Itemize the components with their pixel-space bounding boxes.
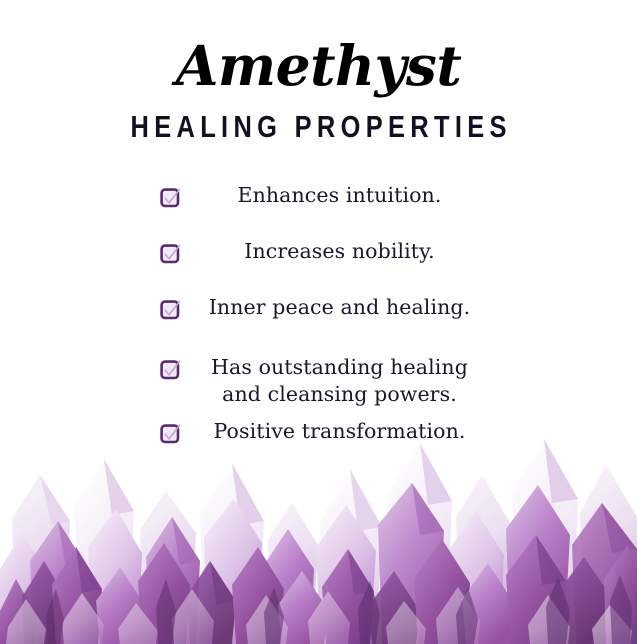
list-item-line: Inner peace and healing. xyxy=(42,294,637,321)
page-title: Amethyst xyxy=(0,38,637,93)
list-item: Enhances intuition. xyxy=(0,182,637,220)
benefits-list: Enhances intuition. Increases nobility. xyxy=(0,182,637,456)
list-item-text: Inner peace and healing. xyxy=(0,294,637,321)
checked-checkbox-icon xyxy=(160,359,181,380)
checked-checkbox-icon xyxy=(160,187,181,208)
list-item-line: and cleansing powers. xyxy=(42,381,637,408)
list-item-text: Increases nobility. xyxy=(0,238,637,265)
list-item-line: Has outstanding healing xyxy=(42,354,637,381)
list-item-line: Enhances intuition. xyxy=(42,182,637,209)
header: Amethyst HEALING PROPERTIES xyxy=(0,0,637,142)
page-subtitle: HEALING PROPERTIES xyxy=(57,93,579,142)
amethyst-crystal-cluster-image xyxy=(0,429,637,644)
list-item: Increases nobility. xyxy=(0,238,637,276)
list-item: Inner peace and healing. xyxy=(0,294,637,332)
list-item: Has outstanding healing and cleansing po… xyxy=(0,354,637,408)
list-item-line: Increases nobility. xyxy=(42,238,637,265)
list-item-text: Has outstanding healing and cleansing po… xyxy=(0,354,637,408)
checked-checkbox-icon xyxy=(160,243,181,264)
list-item-text: Enhances intuition. xyxy=(0,182,637,209)
amethyst-healing-properties-infographic: Amethyst HEALING PROPERTIES Enhances int… xyxy=(0,0,637,644)
checked-checkbox-icon xyxy=(160,299,181,320)
